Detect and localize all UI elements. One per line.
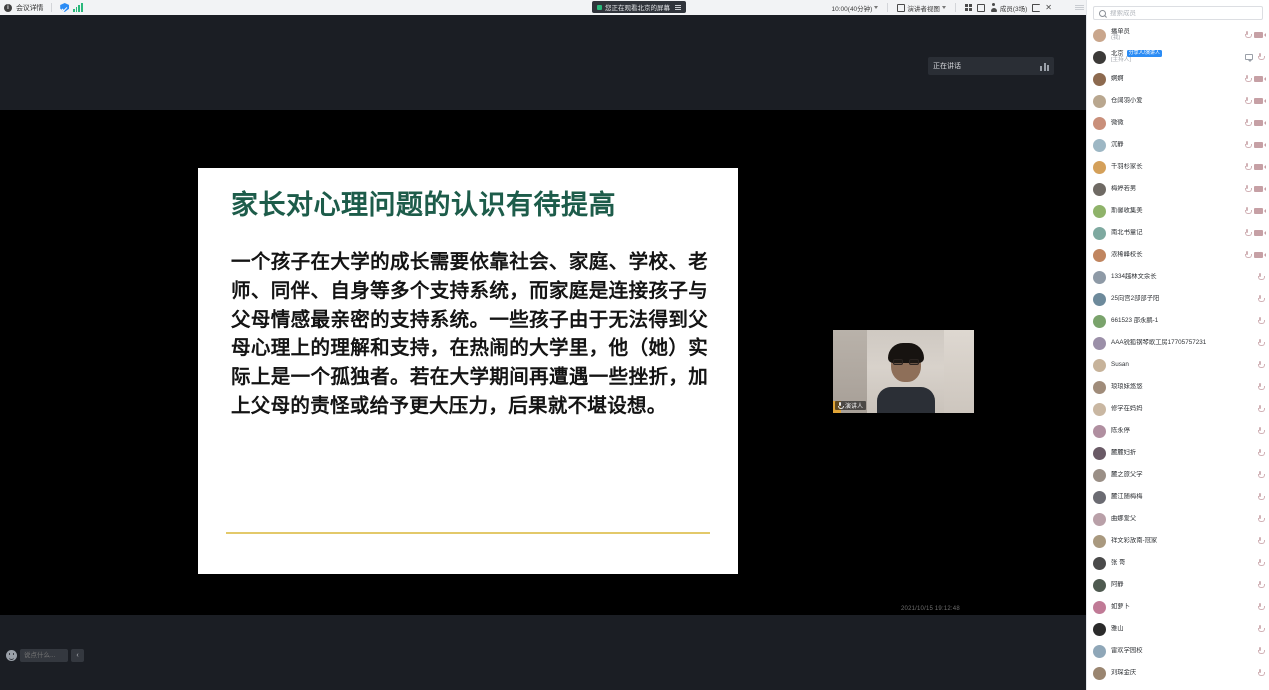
participants-icon [990,3,998,12]
participants-search-wrapper [1087,0,1269,24]
meeting-app-window: i 会议详情 您正在观看北京的屏幕 10:00(40分钟) 演讲者视图 [0,0,1269,690]
participant-name-text: 沉静 [1111,141,1124,148]
avatar [1093,315,1106,328]
participant-name: 修学在妈妈 [1111,405,1252,412]
participant-actions [1257,493,1263,502]
chat-input-bar: ‹ [6,649,84,662]
participant-row[interactable]: 梅婷若男 [1093,178,1263,200]
camera-icon[interactable] [1254,76,1263,82]
participant-meta: 仓阔羽小爱 [1111,97,1239,104]
participant-meta: 阿静 [1111,581,1252,588]
participant-meta: 张 哥 [1111,559,1252,566]
participant-actions [1244,31,1263,40]
meeting-stage: 正在讲话 家长对心理问题的认识有待提高 一个孩子在大学的成长需要依靠社会、家庭、… [0,15,1086,690]
microphone-icon[interactable] [1244,141,1250,150]
participant-meta: 661523 邵永鹏-1 [1111,317,1252,324]
participant-row[interactable]: 雅山 [1093,618,1263,640]
microphone-icon[interactable] [1257,537,1263,546]
participant-name: 阿静 [1111,581,1252,588]
avatar [1093,249,1106,262]
participant-meta: 25向宫2部部子阳 [1111,295,1252,302]
participant-role-label: [主持人] [1111,57,1240,63]
avatar [1093,667,1106,680]
chat-icon[interactable] [1245,54,1253,60]
participant-name-text: AAA锐狐钢琴歌工房17705757231 [1111,339,1206,346]
speaking-indicator-label: 正在讲话 [933,61,961,71]
avatar [1093,293,1106,306]
avatar [1093,227,1106,240]
participant-name: 661523 邵永鹏-1 [1111,317,1252,324]
send-icon[interactable]: ‹ [71,649,84,662]
participant-row[interactable]: 陈永停 [1093,420,1263,442]
participant-actions [1257,427,1263,436]
microphone-icon[interactable] [1257,449,1263,458]
camera-icon[interactable] [1254,230,1263,236]
participant-meta: 麓之旅父学 [1111,471,1252,478]
participant-row[interactable]: 斯馨收集美 [1093,200,1263,222]
camera-icon[interactable] [1254,164,1263,170]
participant-meta: 梅婷若男 [1111,185,1239,192]
microphone-icon[interactable] [1257,493,1263,502]
participant-name-text: 琅琅妹悠悠 [1111,383,1142,390]
avatar [1093,601,1106,614]
participant-row[interactable]: 如萝卜 [1093,596,1263,618]
participant-meta: 如萝卜 [1111,603,1252,610]
microphone-icon[interactable] [1257,427,1263,436]
avatar [1093,337,1106,350]
participant-name: 祥文彩放南-冠家 [1111,537,1252,544]
participant-name: 曲娜爱父 [1111,515,1252,522]
participant-name-text: 661523 邵永鹏-1 [1111,317,1158,324]
participant-meta: 千羽杉家长 [1111,163,1239,170]
camera-icon[interactable] [1254,142,1263,148]
chat-input[interactable] [20,649,68,662]
avatar [1093,425,1106,438]
microphone-icon[interactable] [1257,471,1263,480]
participant-actions [1244,185,1263,194]
avatar [1093,29,1106,42]
participant-row[interactable]: 北京分享人/演讲人[主持人] [1093,46,1263,68]
participant-actions [1257,449,1263,458]
toolbar-right-group: 10:00(40分钟) 演讲者视图 成员(3场) ✕ [832,0,1084,15]
slide-divider-rule [226,532,710,534]
meeting-detail-label[interactable]: 会议详情 [16,3,43,13]
participant-name: 斯馨收集美 [1111,207,1239,214]
participant-actions [1257,625,1263,634]
search-icon [1099,10,1106,17]
video-person-body [877,387,935,413]
microphone-icon[interactable] [1244,75,1250,84]
participant-name-text: 如萝卜 [1111,603,1130,610]
participant-meta: 北京分享人/演讲人[主持人] [1111,50,1240,64]
participant-name-text: 婀婀 [1111,75,1124,82]
microphone-icon[interactable] [1257,603,1263,612]
participant-name-text: 张 哥 [1111,559,1125,566]
participant-actions [1257,515,1263,524]
participant-name: 梅婷若男 [1111,185,1239,192]
screen-share-notice[interactable]: 您正在观看北京的屏幕 [592,1,686,13]
meeting-timer-label: 10:00(40分钟) [832,3,873,13]
participant-actions [1244,97,1263,106]
participant-actions [1244,229,1263,238]
participant-role-label: (我) [1111,35,1239,41]
close-icon[interactable]: ✕ [1045,4,1052,12]
search-input[interactable] [1110,10,1257,17]
participant-meta: AAA锐狐钢琴歌工房17705757231 [1111,339,1252,346]
avatar [1093,645,1106,658]
participant-row[interactable]: 1334越林文余长 [1093,266,1263,288]
participant-actions [1244,141,1263,150]
camera-icon[interactable] [1254,32,1263,38]
microphone-icon[interactable] [1244,163,1250,172]
avatar [1093,557,1106,570]
participant-row[interactable]: 沉静 [1093,134,1263,156]
participant-name-text: 陈永停 [1111,427,1130,434]
chevron-down-icon[interactable] [942,6,946,9]
participant-meta: 麓麓妇折 [1111,449,1252,456]
microphone-icon[interactable] [1257,669,1263,678]
video-nameplate: 演讲人 [835,401,866,410]
participant-actions [1257,471,1263,480]
microphone-icon[interactable] [1257,383,1263,392]
avatar [1093,139,1106,152]
divider [887,3,888,12]
avatar [1093,205,1106,218]
microphone-icon[interactable] [1257,273,1263,282]
participants-search-box[interactable] [1093,6,1263,20]
participant-row[interactable]: 张 哥 [1093,552,1263,574]
microphone-icon[interactable] [1244,119,1250,128]
top-toolbar: i 会议详情 您正在观看北京的屏幕 10:00(40分钟) 演讲者视图 [0,0,1086,15]
microphone-icon[interactable] [1257,625,1263,634]
camera-icon[interactable] [1254,120,1263,126]
participant-actions [1244,119,1263,128]
participant-name: Susan [1111,361,1252,368]
avatar [1093,535,1106,548]
status-badge: 分享人/演讲人 [1127,50,1162,57]
participant-name: 陈永停 [1111,427,1252,434]
participant-name-text: 麓江随梅梅 [1111,493,1142,500]
participant-name: 婀婀 [1111,75,1239,82]
participant-name-text: 阿静 [1111,581,1124,588]
participant-actions [1257,317,1263,326]
participant-actions [1257,647,1263,656]
participant-meta: 祥文彩放南-冠家 [1111,537,1252,544]
grid-view-icon[interactable] [965,4,972,11]
video-nameplate-label: 演讲人 [845,401,863,410]
participant-actions [1257,537,1263,546]
microphone-icon[interactable] [1257,317,1263,326]
participant-name-text: 梅婷若男 [1111,185,1136,192]
participant-meta: 微微 [1111,119,1239,126]
participant-row[interactable]: 麓麓妇折 [1093,442,1263,464]
participant-name: 南北书童记 [1111,229,1239,236]
participant-meta: 陈永停 [1111,427,1252,434]
chevron-down-icon[interactable] [874,6,878,9]
participant-name-text: 南北书童记 [1111,229,1142,236]
participant-name: 播单员 [1111,28,1239,35]
timestamp-watermark: 2021/10/15 19:12:48 [901,606,960,612]
participant-name-text: 仓阔羽小爱 [1111,97,1142,104]
participant-row[interactable]: 播单员(我) [1093,24,1263,46]
participant-name-text: 微微 [1111,119,1124,126]
video-background-right [944,330,974,413]
speaking-indicator: 正在讲话 [928,57,1054,75]
participants-button[interactable]: 成员(3场) [990,3,1027,13]
microphone-icon[interactable] [1244,229,1250,238]
microphone-icon[interactable] [1257,295,1263,304]
avatar [1093,623,1106,636]
participant-row[interactable]: 661523 邵永鹏-1 [1093,310,1263,332]
participant-name-text: 斯馨收集美 [1111,207,1142,214]
participant-name: 千羽杉家长 [1111,163,1239,170]
participant-name-text: 浓稀峰校长 [1111,251,1142,258]
avatar [1093,117,1106,130]
participant-row[interactable]: AAA锐狐钢琴歌工房17705757231 [1093,332,1263,354]
camera-icon[interactable] [1254,98,1263,104]
participant-name-text: 雅山 [1111,625,1124,632]
participant-name-text: 修学在妈妈 [1111,405,1142,412]
microphone-icon[interactable] [1244,207,1250,216]
microphone-icon[interactable] [1257,339,1263,348]
avatar [1093,469,1106,482]
participant-name: 雅山 [1111,625,1252,632]
participant-meta: 雷欢学园校 [1111,647,1252,654]
participant-row[interactable]: 微微 [1093,112,1263,134]
participant-name-text: 1334越林文余长 [1111,273,1157,280]
microphone-icon [837,402,843,409]
participant-name-text: 千羽杉家长 [1111,163,1142,170]
participant-actions [1245,53,1263,62]
avatar [1093,271,1106,284]
participant-name-text: 雷欢学园校 [1111,647,1142,654]
participant-row[interactable]: 雷欢学园校 [1093,640,1263,662]
participant-meta: 修学在妈妈 [1111,405,1252,412]
participant-meta: 雅山 [1111,625,1252,632]
avatar [1093,95,1106,108]
participant-name-text: 麓之旅父学 [1111,471,1142,478]
participant-actions [1257,581,1263,590]
participant-row[interactable]: 修学在妈妈 [1093,398,1263,420]
more-menu-icon[interactable] [1075,5,1084,10]
microphone-icon[interactable] [1244,31,1250,40]
participant-meta: 沉静 [1111,141,1239,148]
microphone-icon[interactable] [1244,185,1250,194]
participant-actions [1257,273,1263,282]
participant-name-text: 曲娜爱父 [1111,515,1136,522]
avatar [1093,51,1106,64]
share-screen-icon[interactable] [1032,4,1040,12]
shared-slide: 家长对心理问题的认识有待提高 一个孩子在大学的成长需要依靠社会、家庭、学校、老师… [198,168,738,574]
shield-icon[interactable] [60,3,69,12]
slide-body-text: 一个孩子在大学的成长需要依靠社会、家庭、学校、老师、同伴、自身等多个支持系统，而… [231,248,708,420]
audio-level-icon [1040,62,1049,71]
participant-actions [1257,603,1263,612]
participant-actions [1244,251,1263,260]
screen-share-notice-label: 您正在观看北京的屏幕 [605,2,670,12]
participant-meta: 琅琅妹悠悠 [1111,383,1252,390]
participant-actions [1244,163,1263,172]
participant-name: 张 哥 [1111,559,1252,566]
avatar [1093,161,1106,174]
participant-actions [1257,405,1263,414]
participant-name: 琅琅妹悠悠 [1111,383,1252,390]
avatar [1093,183,1106,196]
participant-row[interactable]: 25向宫2部部子阳 [1093,288,1263,310]
layout-grid-icon [897,4,905,12]
participant-name-text: 麓麓妇折 [1111,449,1136,456]
participant-name: 麓麓妇折 [1111,449,1252,456]
microphone-icon[interactable] [1257,647,1263,656]
participant-row[interactable]: 阿静 [1093,574,1263,596]
participant-name: AAA锐狐钢琴歌工房17705757231 [1111,339,1252,346]
participant-name-text: 祥文彩放南-冠家 [1111,537,1157,544]
speaker-video-thumbnail[interactable]: 演讲人 [833,330,974,413]
avatar [1093,579,1106,592]
participant-meta: 刘琛金庆 [1111,669,1252,676]
participant-row[interactable]: 祥文彩放南-冠家 [1093,530,1263,552]
participant-row[interactable]: 婀婀 [1093,68,1263,90]
participant-row[interactable]: 麓江随梅梅 [1093,486,1263,508]
slide-title: 家长对心理问题的认识有待提高 [231,190,708,222]
participant-row[interactable]: 浓稀峰校长 [1093,244,1263,266]
participant-actions [1257,669,1263,678]
stage-bottom-strip [0,615,1086,690]
participant-meta: 曲娜爱父 [1111,515,1252,522]
participant-name: 仓阔羽小爱 [1111,97,1239,104]
participant-name: 麓之旅父学 [1111,471,1252,478]
participant-name: 雷欢学园校 [1111,647,1252,654]
avatar [1093,513,1106,526]
participant-row[interactable]: 仓阔羽小爱 [1093,90,1263,112]
view-mode-label: 演讲者视图 [907,3,940,13]
microphone-icon[interactable] [1257,405,1263,414]
avatar [1093,403,1106,416]
participant-meta: Susan [1111,361,1252,368]
avatar [1093,491,1106,504]
meeting-timer[interactable]: 10:00(40分钟) [832,3,879,13]
participant-actions [1257,339,1263,348]
participant-name-text: 刘琛金庆 [1111,669,1136,676]
participant-name: 微微 [1111,119,1239,126]
microphone-icon[interactable] [1244,97,1250,106]
slide-content: 家长对心理问题的认识有待提高 一个孩子在大学的成长需要依靠社会、家庭、学校、老师… [198,168,738,420]
microphone-icon[interactable] [1257,361,1263,370]
participant-row[interactable]: 曲娜爱父 [1093,508,1263,530]
participant-name: 沉静 [1111,141,1239,148]
video-person-glasses [893,359,919,365]
fullscreen-icon[interactable] [977,4,985,12]
participant-actions [1257,383,1263,392]
participants-count-label: 成员(3场) [1000,3,1027,13]
share-active-dot-icon [597,5,602,10]
emoji-icon[interactable] [6,650,17,661]
participant-meta: 浓稀峰校长 [1111,251,1239,258]
participants-list[interactable]: 播单员(我)北京分享人/演讲人[主持人]婀婀仓阔羽小爱微微沉静千羽杉家长梅婷若男… [1087,24,1269,690]
camera-icon[interactable] [1254,186,1263,192]
participant-meta: 麓江随梅梅 [1111,493,1252,500]
participant-name-text: Susan [1111,361,1129,368]
participant-actions [1244,75,1263,84]
participant-meta: 1334越林文余长 [1111,273,1252,280]
microphone-icon[interactable] [1244,251,1250,260]
participant-actions [1244,207,1263,216]
participant-actions [1257,295,1263,304]
camera-icon[interactable] [1254,208,1263,214]
participant-row[interactable]: 千羽杉家长 [1093,156,1263,178]
participant-row[interactable]: Susan [1093,354,1263,376]
participant-row[interactable]: 南北书童记 [1093,222,1263,244]
participant-name: 浓稀峰校长 [1111,251,1239,258]
info-icon[interactable]: i [4,4,12,12]
participant-name: 1334越林文余长 [1111,273,1252,280]
toolbar-left-group: i 会议详情 [4,3,83,13]
microphone-icon[interactable] [1257,515,1263,524]
participant-name: 如萝卜 [1111,603,1252,610]
participant-meta: 婀婀 [1111,75,1239,82]
participant-name: 25向宫2部部子阳 [1111,295,1252,302]
participant-name: 麓江随梅梅 [1111,493,1252,500]
participant-row[interactable]: 琅琅妹悠悠 [1093,376,1263,398]
signal-strength-icon[interactable] [73,3,82,12]
stage-top-strip [0,15,1086,110]
participant-actions [1257,361,1263,370]
participants-panel: 播单员(我)北京分享人/演讲人[主持人]婀婀仓阔羽小爱微微沉静千羽杉家长梅婷若男… [1086,0,1269,690]
microphone-icon[interactable] [1257,559,1263,568]
hamburger-menu-icon[interactable] [675,5,681,10]
participant-name: 刘琛金庆 [1111,669,1252,676]
view-mode-selector[interactable]: 演讲者视图 [897,3,946,13]
participant-meta: 播单员(我) [1111,28,1239,42]
avatar [1093,359,1106,372]
camera-icon[interactable] [1254,252,1263,258]
microphone-icon[interactable] [1257,581,1263,590]
participant-row[interactable]: 麓之旅父学 [1093,464,1263,486]
participant-actions [1257,559,1263,568]
divider [51,3,52,12]
participant-name-text: 25向宫2部部子阳 [1111,295,1159,302]
participant-meta: 南北书童记 [1111,229,1239,236]
participant-row[interactable]: 刘琛金庆 [1093,662,1263,684]
avatar [1093,381,1106,394]
microphone-icon[interactable] [1257,53,1263,62]
avatar [1093,447,1106,460]
avatar [1093,73,1106,86]
divider [955,3,956,12]
participant-meta: 斯馨收集美 [1111,207,1239,214]
